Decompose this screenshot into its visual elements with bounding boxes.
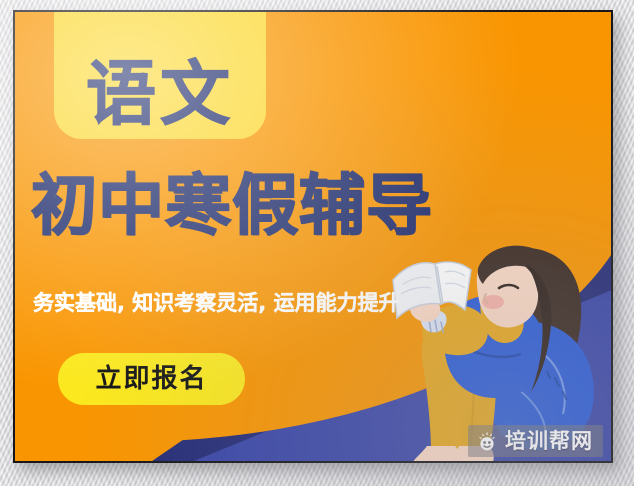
- watermark-text: 培训帮网: [505, 431, 593, 452]
- poster-headline: 初中寒假辅导: [31, 173, 433, 239]
- poster-subtitle: 务实基础, 知识考察灵活, 运用能力提升: [33, 293, 400, 314]
- image-canvas: 语文 初中寒假辅导 务实基础, 知识考察灵活, 运用能力提升 立即报名: [0, 0, 634, 486]
- enroll-now-button[interactable]: 立即报名: [58, 353, 245, 405]
- enroll-now-label: 立即报名: [95, 366, 207, 392]
- poster-frame: 语文 初中寒假辅导 务实基础, 知识考察灵活, 运用能力提升 立即报名: [13, 10, 613, 463]
- smiley-sun-icon: [476, 430, 498, 452]
- watermark: 培训帮网: [468, 425, 603, 457]
- poster-content: 语文 初中寒假辅导 务实基础, 知识考察灵活, 运用能力提升 立即报名: [15, 12, 611, 461]
- subject-badge-label: 语文: [86, 59, 234, 129]
- subject-badge: 语文: [54, 12, 266, 139]
